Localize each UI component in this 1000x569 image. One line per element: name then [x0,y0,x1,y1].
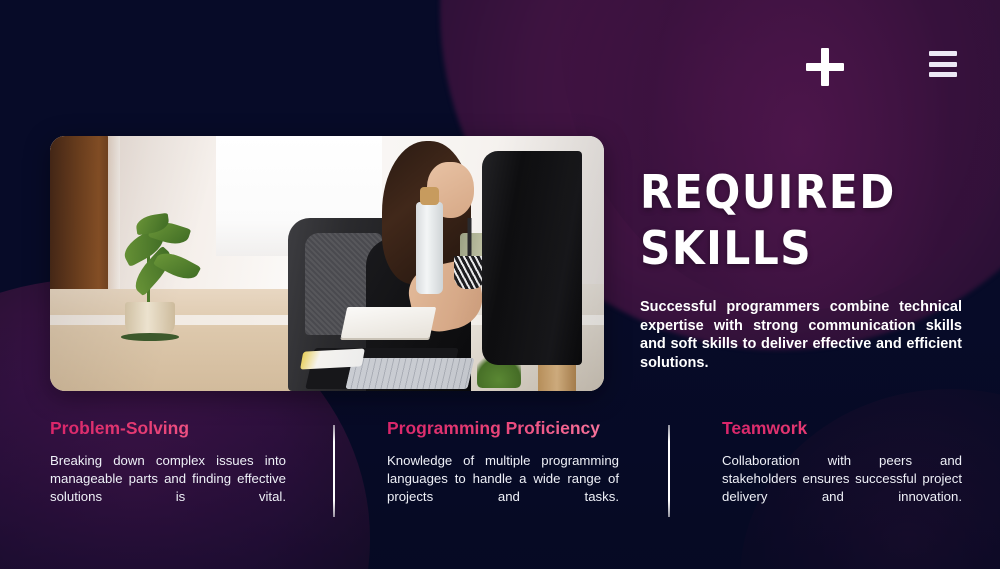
skill-column-problem-solving: Problem-Solving Breaking down complex is… [50,418,286,525]
page-title: REQUIRED SKILLS [640,170,968,271]
skill-title: Programming Proficiency [387,418,619,439]
skill-title: Problem-Solving [50,418,286,439]
column-divider-1 [333,425,335,517]
page-title-line-2: SKILLS [640,226,968,271]
skill-body: Knowledge of multiple programming langua… [387,452,619,525]
scene-shading [50,136,604,391]
hero-image-content [50,136,604,391]
plus-icon[interactable] [806,48,844,86]
page-subtitle: Successful programmers combine technical… [640,298,962,391]
skills-columns: Problem-Solving Breaking down complex is… [0,418,1000,538]
slide-canvas: REQUIRED SKILLS Successful programmers c… [0,0,1000,569]
skill-column-teamwork: Teamwork Collaboration with peers and st… [722,418,962,525]
skill-column-programming-proficiency: Programming Proficiency Knowledge of mul… [387,418,619,525]
menu-bar-1 [929,51,957,56]
menu-bar-2 [929,62,957,67]
headline-block: REQUIRED SKILLS Successful programmers c… [640,170,962,391]
hero-image [50,136,604,391]
skill-body: Collaboration with peers and stakeholder… [722,452,962,525]
column-divider-2 [668,425,670,517]
page-title-line-1: REQUIRED [640,165,896,219]
top-bar [0,0,1000,120]
hamburger-menu-icon[interactable] [929,51,957,77]
skill-body: Breaking down complex issues into manage… [50,452,286,525]
skill-title: Teamwork [722,418,962,439]
menu-bar-3 [929,72,957,77]
